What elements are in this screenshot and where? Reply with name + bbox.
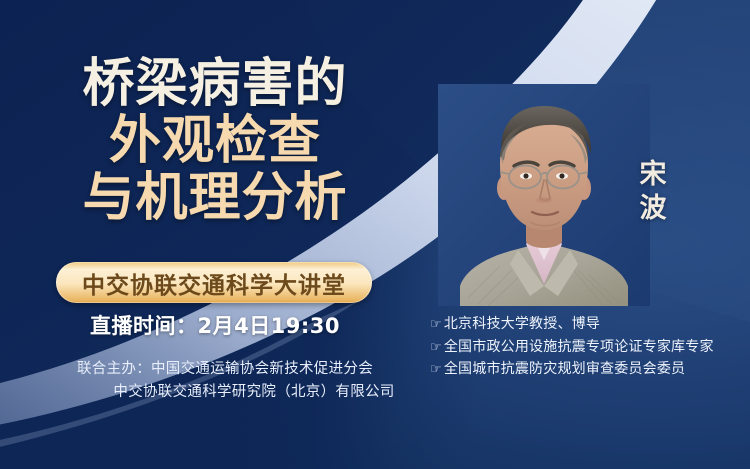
credential-item: ☞ 全国城市抗震防灾规划审查委员会委员 [430, 358, 750, 381]
speaker-credentials: ☞ 北京科技大学教授、博导 ☞ 全国市政公用设施抗震专项论证专家库专家 ☞ 全国… [430, 313, 750, 381]
credential-text: 全国城市抗震防灾规划审查委员会委员 [444, 358, 685, 380]
webinar-poster: 桥梁病害的 外观检查 与机理分析 [0, 0, 750, 469]
title-line-2: 外观检查 [0, 115, 430, 168]
credential-item: ☞ 北京科技大学教授、博导 [430, 313, 750, 336]
title-line-1: 桥梁病害的 [0, 58, 430, 111]
speaker-name: 宋 波 [633, 158, 673, 226]
program-banner: 中交协联交通科学大讲堂 [56, 262, 372, 303]
credential-text: 北京科技大学教授、博导 [444, 313, 600, 335]
live-time: 直播时间：2月4日19:30 [0, 310, 430, 340]
organizer-line-1: 联合主办：中国交通运输协会新技术促进分会 [0, 358, 450, 381]
pointing-hand-icon: ☞ [430, 315, 442, 336]
pointing-hand-icon: ☞ [430, 360, 442, 381]
pointing-hand-icon: ☞ [430, 338, 442, 359]
speaker-portrait [438, 84, 650, 306]
program-banner-label: 中交协联交通科学大讲堂 [82, 266, 346, 300]
organizer-line-2: 中交协联交通科学研究院（北京）有限公司 [0, 381, 450, 404]
credential-text: 全国市政公用设施抗震专项论证专家库专家 [444, 336, 714, 358]
speaker-name-char-1: 宋 [633, 158, 673, 192]
credential-item: ☞ 全国市政公用设施抗震专项论证专家库专家 [430, 336, 750, 359]
speaker-name-char-2: 波 [633, 192, 673, 226]
organizers: 联合主办：中国交通运输协会新技术促进分会 中交协联交通科学研究院（北京）有限公司 [0, 358, 450, 405]
poster-title: 桥梁病害的 外观检查 与机理分析 [0, 58, 430, 225]
title-line-3: 与机理分析 [0, 172, 430, 225]
